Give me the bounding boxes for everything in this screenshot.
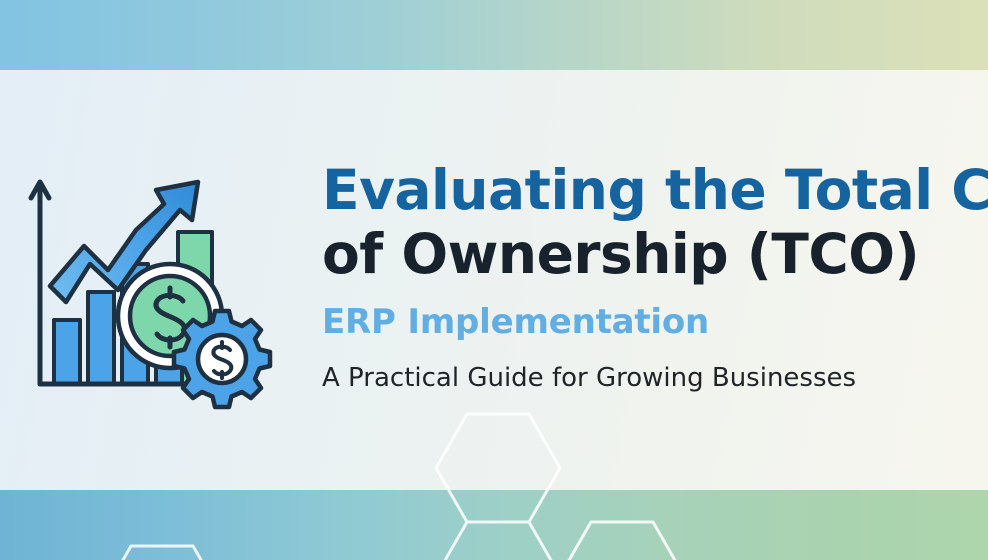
banner-text-block: Evaluating the Total Cost of Ownership (… xyxy=(322,158,970,394)
page-title-line-2: of Ownership (TCO) xyxy=(322,222,970,286)
page-title-line-1: Evaluating the Total Cost xyxy=(322,158,970,222)
tco-title-banner: Evaluating the Total Cost of Ownership (… xyxy=(0,0,988,560)
growth-chart-with-money-illustration xyxy=(26,168,298,416)
page-subtitle: ERP Implementation xyxy=(322,302,970,342)
bar-1 xyxy=(54,320,80,384)
top-gradient-band xyxy=(0,0,988,70)
page-tagline: A Practical Guide for Growing Businesses xyxy=(322,362,970,394)
gear-with-dollar xyxy=(174,311,270,407)
bar-2 xyxy=(88,292,114,384)
bottom-gradient-band xyxy=(0,490,988,560)
